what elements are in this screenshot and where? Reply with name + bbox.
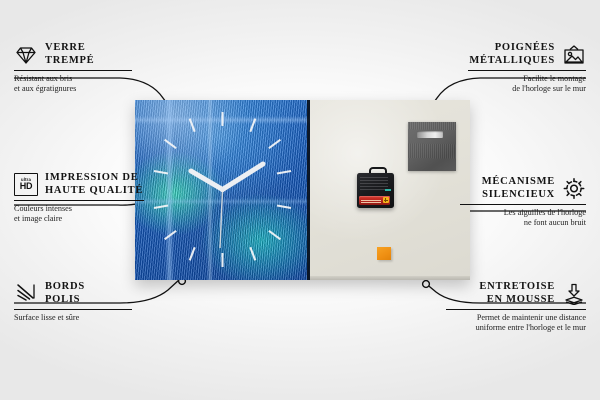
polished-edges-icon: [14, 283, 38, 305]
feature-mechanism: MÉCANISME SILENCIEUX Les aiguilles de l'…: [460, 176, 586, 229]
foam-spacer: [377, 247, 391, 260]
feature-spacer-rule: [446, 309, 586, 310]
feature-print-rule: [14, 200, 144, 201]
feature-mechanism-title: MÉCANISME SILENCIEUX: [482, 176, 555, 201]
battery-plus-terminal: [383, 197, 389, 203]
back-panel-bottom-edge: [310, 276, 470, 280]
movement-label: [360, 177, 388, 190]
feature-glass-head: VERRE TREMPÉ: [14, 42, 132, 67]
handle-slot: [417, 131, 443, 138]
minute-hand: [223, 164, 264, 190]
feature-print-desc: Couleurs intenses et image claire: [14, 204, 144, 225]
feature-glass-rule: [14, 70, 132, 71]
feature-handles-head: POIGNÉES MÉTALLIQUES: [468, 42, 586, 67]
feature-handles-rule: [468, 70, 586, 71]
diamond-icon: [14, 44, 38, 66]
product-photo: [135, 100, 470, 280]
second-hand: [220, 190, 223, 249]
feature-print-title: IMPRESSION DE HAUTE QUALITÉ: [45, 172, 143, 197]
clock-movement: [357, 173, 394, 208]
feature-handles: POIGNÉES MÉTALLIQUES Facilite le montage…: [468, 42, 586, 95]
feature-glass-title: VERRE TREMPÉ: [45, 42, 94, 67]
ultra-hd-badge-large: HD: [20, 182, 33, 191]
feature-edges-desc: Surface lisse et sûre: [14, 313, 132, 323]
connector-dot-spacer: [423, 281, 430, 288]
feature-edges-rule: [14, 309, 132, 310]
feature-print: ultra HD IMPRESSION DE HAUTE QUALITÉ Cou…: [14, 172, 144, 225]
movement-marker: [385, 189, 391, 191]
clock-back-panel: [310, 100, 470, 280]
battery: [359, 196, 390, 205]
feature-edges-head: BORDS POLIS: [14, 281, 132, 306]
feature-glass: VERRE TREMPÉ Résistant aux bris et aux é…: [14, 42, 132, 95]
hand-hub: [220, 187, 225, 192]
infographic-canvas: VERRE TREMPÉ Résistant aux bris et aux é…: [0, 0, 600, 400]
feature-handles-title: POIGNÉES MÉTALLIQUES: [469, 42, 555, 67]
feature-spacer: ENTRETOISE EN MOUSSE Permet de maintenir…: [446, 281, 586, 334]
feature-mechanism-rule: [460, 204, 586, 205]
feature-glass-desc: Résistant aux bris et aux égratignures: [14, 74, 132, 95]
clock-face: [135, 100, 310, 280]
feature-spacer-desc: Permet de maintenir une distance uniform…: [446, 313, 586, 334]
feature-spacer-head: ENTRETOISE EN MOUSSE: [446, 281, 586, 306]
gear-icon: [562, 178, 586, 200]
battery-label: [361, 199, 381, 203]
feature-handles-desc: Facilite le montage de l'horloge sur le …: [468, 74, 586, 95]
feature-mechanism-desc: Les aiguilles de l'horloge ne font aucun…: [460, 208, 586, 229]
feature-mechanism-head: MÉCANISME SILENCIEUX: [460, 176, 586, 201]
feature-spacer-title: ENTRETOISE EN MOUSSE: [479, 281, 555, 306]
metal-handle-plate: [408, 122, 456, 171]
movement-body: [357, 173, 394, 208]
picture-frame-hanger-icon: [562, 44, 586, 66]
arrow-down-onto-layers-icon: [562, 283, 586, 305]
feature-print-head: ultra HD IMPRESSION DE HAUTE QUALITÉ: [14, 172, 144, 197]
ultra-hd-badge-icon: ultra HD: [14, 174, 38, 196]
hour-hand: [191, 171, 223, 190]
feature-edges: BORDS POLIS Surface lisse et sûre: [14, 281, 132, 323]
feature-edges-title: BORDS POLIS: [45, 281, 85, 306]
clock-front-panel: [135, 100, 310, 280]
